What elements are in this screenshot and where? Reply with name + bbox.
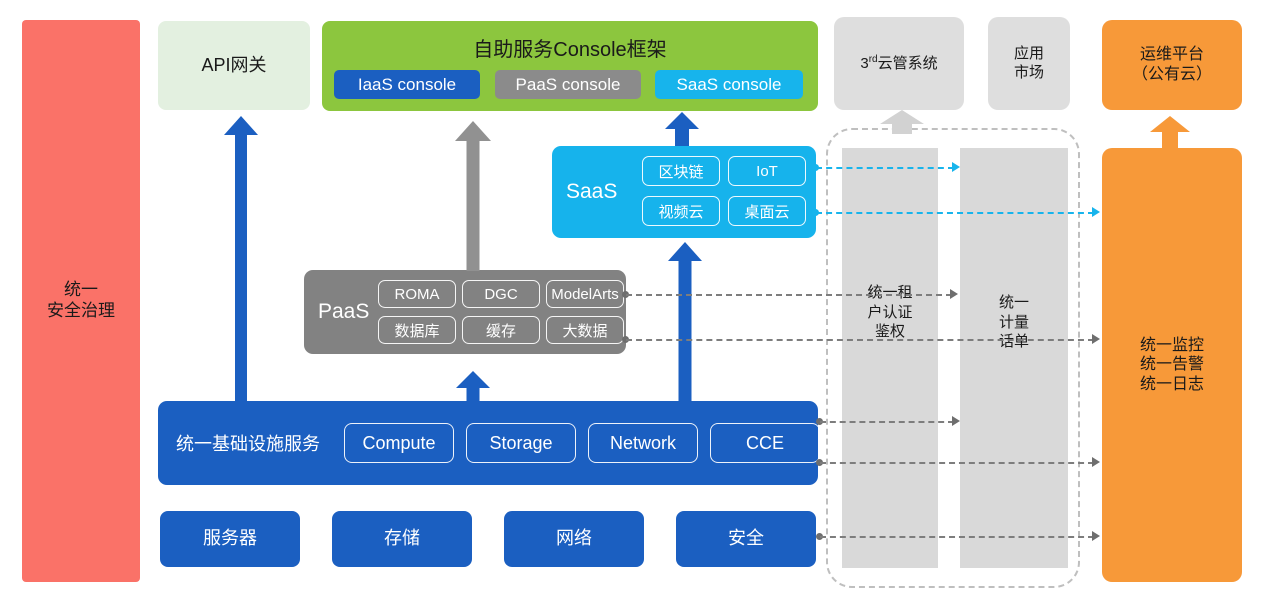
console-framework-title: 自助服务Console框架 [322, 33, 818, 62]
chip-paas-console[interactable]: PaaS console [495, 70, 641, 99]
third-party-prefix: 3 [860, 55, 868, 72]
iaas-service-storage-label: Storage [489, 433, 552, 454]
connector-paas-to-auth [626, 294, 952, 296]
connector-arrowhead-iaas-to-metering [952, 416, 960, 426]
security-label-line2: 安全治理 [47, 301, 115, 322]
iaas-service-compute-label: Compute [362, 433, 435, 454]
paas-service-dgc[interactable]: DGC [462, 280, 540, 308]
panel-unified-infrastructure-service: 统一基础设施服务 Compute Storage Network CCE [158, 401, 818, 485]
shared-services-auth-column [842, 148, 938, 568]
api-gateway-label: API网关 [201, 55, 266, 77]
tile-server[interactable]: 服务器 [160, 511, 300, 567]
iaas-service-network[interactable]: Network [588, 423, 698, 463]
panel-ops-platform-public-cloud: 运维平台 （公有云） [1102, 20, 1242, 110]
metering-line3: 话单 [960, 332, 1068, 352]
connector-arrowhead-iaas-to-ops-monitor [1092, 457, 1100, 467]
chip-iaas-console[interactable]: IaaS console [334, 70, 480, 99]
ops-platform-line2: （公有云） [1132, 65, 1212, 85]
ops-platform-line1: 运维平台 [1140, 45, 1204, 65]
connector-arrowhead-paas-to-ops-monitor [1092, 334, 1100, 344]
paas-service-modelarts-label: ModelArts [551, 286, 619, 303]
metering-column-label: 统一 计量 话单 [960, 293, 1068, 352]
third-party-superscript: rd [869, 54, 878, 65]
tile-security[interactable]: 安全 [676, 511, 816, 567]
saas-service-blockchain-label: 区块链 [658, 161, 703, 182]
connector-hardware-to-ops-monitor [820, 536, 1094, 538]
paas-service-roma-label: ROMA [395, 286, 440, 303]
connector-iaas-to-ops-monitor [820, 462, 1094, 464]
paas-service-modelarts[interactable]: ModelArts [546, 280, 624, 308]
chip-paas-console-label: PaaS console [516, 75, 621, 95]
saas-service-desktop-cloud-label: 桌面云 [744, 201, 789, 222]
iaas-service-cce[interactable]: CCE [710, 423, 820, 463]
connector-saas-to-metering [816, 167, 954, 169]
auth-line2: 户认证 [842, 303, 938, 323]
tile-server-label: 服务器 [203, 528, 257, 550]
connector-arrowhead-saas-to-ops-monitor [1092, 207, 1100, 217]
panel-unified-monitoring-alarm-log: 统一监控 统一告警 统一日志 [1102, 148, 1242, 582]
connector-iaas-to-metering [820, 421, 954, 423]
paas-service-cache-label: 缓存 [486, 320, 516, 341]
saas-service-video-cloud[interactable]: 视频云 [642, 196, 720, 226]
panel-app-market: 应用 市场 [988, 17, 1070, 110]
connector-arrowhead-saas-to-metering [952, 162, 960, 172]
chip-saas-console[interactable]: SaaS console [655, 70, 803, 99]
iaas-service-compute[interactable]: Compute [344, 423, 454, 463]
iaas-layer-label: 统一基础设施服务 [176, 401, 320, 485]
connector-arrowhead-paas-to-metering [950, 289, 958, 299]
ops-monitor-line3: 统一日志 [1140, 375, 1204, 395]
connector-arrowhead-hardware-to-ops-monitor [1092, 531, 1100, 541]
saas-service-iot[interactable]: IoT [728, 156, 806, 186]
chip-saas-console-label: SaaS console [677, 75, 782, 95]
connector-saas-to-ops-monitor [816, 212, 1094, 214]
saas-layer-label: SaaS [566, 146, 617, 238]
paas-service-database-label: 数据库 [394, 320, 439, 341]
app-market-line2: 市场 [1014, 64, 1044, 82]
iaas-service-storage[interactable]: Storage [466, 423, 576, 463]
ops-monitor-line1: 统一监控 [1140, 336, 1204, 356]
arrow-up-infrastructure-to-saas [668, 242, 702, 402]
panel-paas-layer: PaaS ROMA DGC ModelArts 数据库 缓存 大数据 [304, 270, 626, 354]
arrow-up-paas-to-paas-console [455, 121, 491, 271]
tile-storage-label: 存储 [384, 528, 420, 550]
saas-service-blockchain[interactable]: 区块链 [642, 156, 720, 186]
tile-network-label: 网络 [556, 528, 592, 550]
paas-service-roma[interactable]: ROMA [378, 280, 456, 308]
panel-saas-layer: SaaS 区块链 IoT 视频云 桌面云 [552, 146, 816, 238]
app-market-line1: 应用 [1014, 45, 1044, 63]
security-label-line1: 统一 [64, 280, 98, 301]
metering-line1: 统一 [960, 293, 1068, 313]
third-party-suffix: 云管系统 [878, 55, 938, 72]
architecture-diagram: 统一 安全治理 API网关 自助服务Console框架 IaaS console… [0, 0, 1265, 605]
panel-third-party-cloud-management: 3rd云管系统 [834, 17, 964, 110]
panel-api-gateway: API网关 [158, 21, 310, 110]
chip-iaas-console-label: IaaS console [358, 75, 456, 95]
paas-service-database[interactable]: 数据库 [378, 316, 456, 344]
panel-unified-security-governance: 统一 安全治理 [22, 20, 140, 582]
panel-selfservice-console-framework: 自助服务Console框架 IaaS console PaaS console … [322, 21, 818, 111]
iaas-service-cce-label: CCE [746, 433, 784, 454]
tile-security-label: 安全 [728, 528, 764, 550]
arrow-up-shared-services-to-third-party-cloud [880, 110, 924, 134]
metering-line2: 计量 [960, 313, 1068, 333]
arrow-up-infrastructure-to-paas [456, 371, 490, 402]
arrow-up-saas-to-saas-console [665, 112, 699, 146]
third-party-cloud-label: 3rd云管系统 [860, 54, 937, 73]
connector-paas-to-ops-monitor [626, 339, 1094, 341]
ops-monitor-line2: 统一告警 [1140, 355, 1204, 375]
tile-network[interactable]: 网络 [504, 511, 644, 567]
paas-service-bigdata[interactable]: 大数据 [546, 316, 624, 344]
saas-service-desktop-cloud[interactable]: 桌面云 [728, 196, 806, 226]
auth-column-label: 统一租 户认证 鉴权 [842, 283, 938, 342]
arrow-up-ops-monitor-to-ops-platform [1150, 116, 1190, 148]
paas-service-dgc-label: DGC [484, 286, 517, 303]
tile-storage[interactable]: 存储 [332, 511, 472, 567]
paas-service-bigdata-label: 大数据 [562, 320, 607, 341]
iaas-service-network-label: Network [610, 433, 676, 454]
auth-line1: 统一租 [842, 283, 938, 303]
shared-services-metering-column [960, 148, 1068, 568]
paas-service-cache[interactable]: 缓存 [462, 316, 540, 344]
saas-service-iot-label: IoT [756, 163, 778, 180]
arrow-up-infrastructure-to-api-gateway [224, 116, 258, 402]
paas-layer-label: PaaS [318, 270, 369, 354]
saas-service-video-cloud-label: 视频云 [658, 201, 703, 222]
